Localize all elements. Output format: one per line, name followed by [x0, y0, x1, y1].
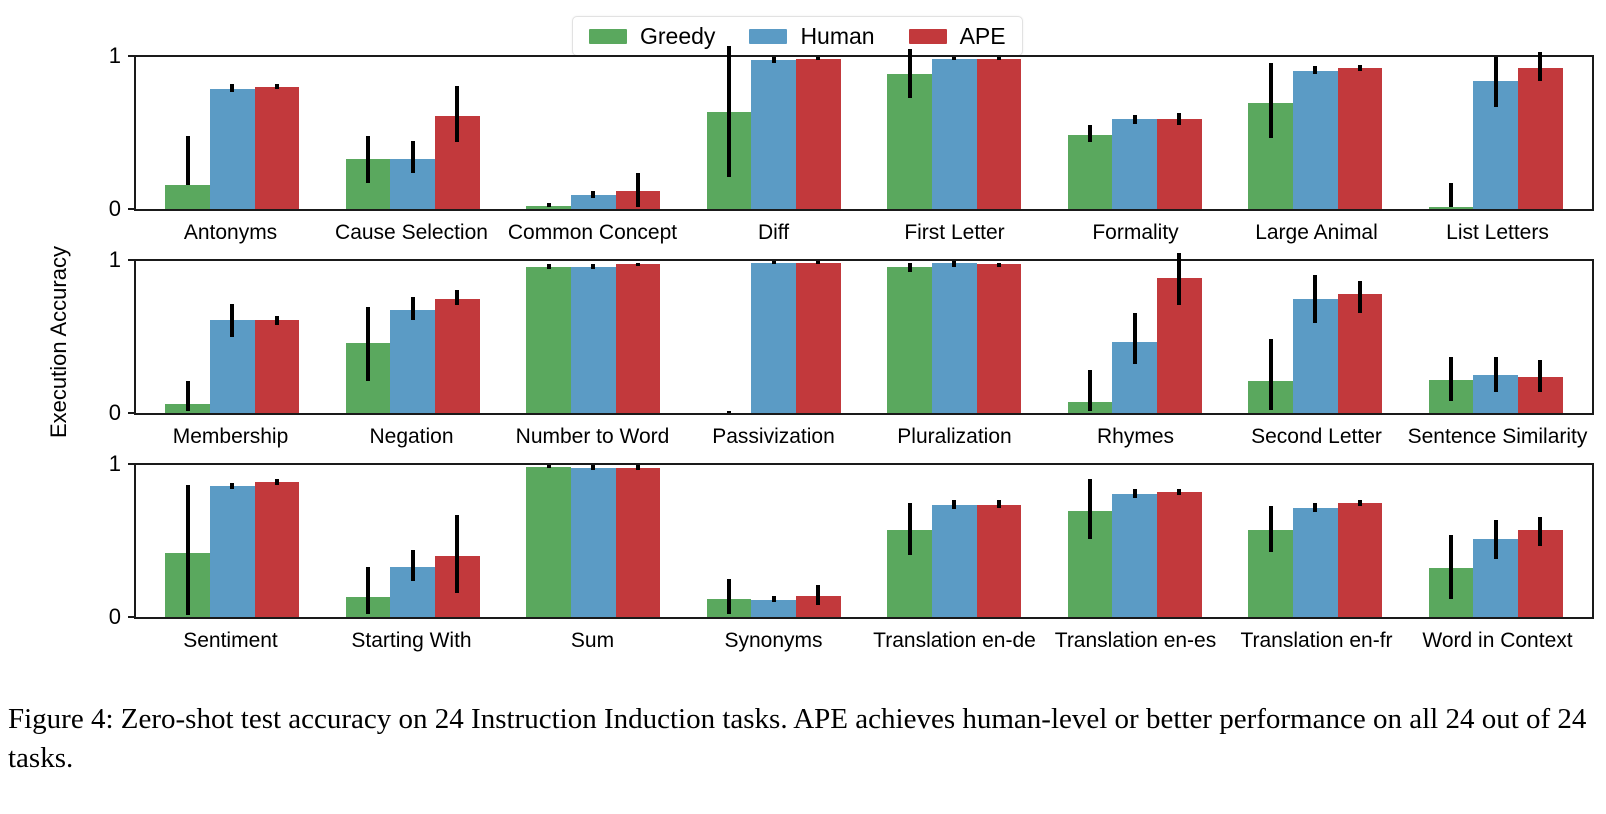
bar-ape[interactable]: [255, 482, 300, 617]
bar-group-bars: [1068, 465, 1202, 617]
x-tick-label: Translation en-es: [1045, 619, 1226, 651]
bar-human[interactable]: [932, 263, 977, 413]
x-tick-label: Passivization: [683, 415, 864, 447]
error-bar-ape: [455, 86, 459, 142]
bar-human[interactable]: [210, 486, 255, 617]
error-bar-greedy: [547, 264, 551, 269]
bar-group-bars: [526, 57, 660, 209]
error-bar-ape: [816, 261, 820, 264]
bar-slot: [571, 465, 616, 617]
x-tick-label: Translation en-fr: [1226, 619, 1407, 651]
y-tick-mark: [128, 412, 136, 414]
bar-group: [1225, 465, 1406, 617]
bar-slot: [932, 57, 977, 209]
x-axis-labels: MembershipNegationNumber to WordPassiviz…: [134, 415, 1594, 447]
bar-slot: [616, 465, 661, 617]
y-tick-0: 0: [109, 400, 136, 426]
error-bar-ape: [816, 57, 820, 60]
bar-ape[interactable]: [796, 263, 841, 413]
error-bar-ape: [997, 500, 1001, 508]
y-tick-mark: [128, 463, 136, 465]
bar-slot: [1518, 261, 1563, 413]
bar-group: [323, 261, 504, 413]
error-bar-human: [411, 141, 415, 173]
bar-human[interactable]: [210, 89, 255, 209]
bar-group-bars: [887, 261, 1021, 413]
bar-group: [142, 465, 323, 617]
bar-slot: [346, 465, 391, 617]
bar-group-bars: [1429, 57, 1563, 209]
bar-group-bars: [707, 465, 841, 617]
bar-group-bars: [887, 465, 1021, 617]
y-tick-mark: [128, 616, 136, 618]
chart-panel-row-3: 1 0 SentimentStarting WithSumSynonymsTra…: [134, 463, 1594, 619]
x-tick-label: Translation en-de: [864, 619, 1045, 651]
bar-slot: [255, 57, 300, 209]
bar-group: [142, 57, 323, 209]
bar-slot: [977, 465, 1022, 617]
x-tick-label: Diff: [683, 211, 864, 243]
bar-group: [1406, 261, 1587, 413]
y-tick-label: 1: [109, 451, 121, 477]
error-bar-ape: [1538, 360, 1542, 392]
bar-group: [323, 57, 504, 209]
error-bar-human: [230, 483, 234, 489]
bar-group-bars: [1429, 465, 1563, 617]
bar-slot: [707, 465, 752, 617]
bar-slot: [1112, 57, 1157, 209]
bar-human[interactable]: [1293, 71, 1338, 209]
bar-slot: [346, 261, 391, 413]
x-tick-label: Sentiment: [140, 619, 321, 651]
error-bar-human: [591, 191, 595, 199]
figure-caption: Figure 4: Zero-shot test accuracy on 24 …: [8, 700, 1600, 778]
bar-group-bars: [887, 57, 1021, 209]
bar-slot: [1112, 261, 1157, 413]
bar-slot: [1429, 57, 1474, 209]
bar-slot: [210, 261, 255, 413]
bar-ape[interactable]: [977, 59, 1022, 209]
legend-entry-ape[interactable]: APE: [909, 25, 1006, 48]
y-axis-label-text: Execution Accuracy: [46, 202, 72, 482]
error-bar-human: [1494, 57, 1498, 107]
figure-container: GreedyHumanAPE Execution Accuracy 1 0 An…: [0, 0, 1606, 814]
bar-human[interactable]: [932, 505, 977, 617]
bar-group: [1225, 57, 1406, 209]
error-bar-greedy: [1269, 339, 1273, 410]
x-axis-labels: SentimentStarting WithSumSynonymsTransla…: [134, 619, 1594, 651]
bar-slot: [526, 261, 571, 413]
error-bar-human: [952, 500, 956, 509]
bar-slot: [1518, 57, 1563, 209]
bar-slot: [1293, 465, 1338, 617]
bar-slot: [796, 465, 841, 617]
bar-group: [684, 57, 865, 209]
bar-greedy[interactable]: [526, 467, 571, 617]
bar-human[interactable]: [751, 60, 796, 209]
bar-greedy[interactable]: [165, 185, 210, 209]
x-tick-label: Negation: [321, 415, 502, 447]
bar-group-bars: [707, 261, 841, 413]
error-bar-greedy: [366, 136, 370, 183]
bar-slot: [1248, 465, 1293, 617]
bar-group: [142, 261, 323, 413]
bar-slot: [887, 57, 932, 209]
bar-human[interactable]: [932, 59, 977, 209]
bar-slot: [1429, 465, 1474, 617]
error-bar-greedy: [1088, 370, 1092, 411]
error-bar-ape: [1358, 281, 1362, 313]
bar-slot: [1473, 465, 1518, 617]
bar-ape[interactable]: [1518, 68, 1563, 209]
error-bar-human: [772, 57, 776, 63]
legend-swatch-human: [749, 29, 787, 44]
bar-slot: [1248, 57, 1293, 209]
error-bar-greedy: [186, 485, 190, 616]
error-bar-greedy: [908, 263, 912, 272]
legend-label-greedy: Greedy: [640, 25, 715, 48]
bar-slot: [616, 57, 661, 209]
bar-slot: [751, 261, 796, 413]
error-bar-ape: [275, 84, 279, 89]
bar-ape[interactable]: [977, 505, 1022, 617]
error-bar-greedy: [1269, 506, 1273, 552]
error-bar-human: [1133, 489, 1137, 498]
bar-slot: [1293, 261, 1338, 413]
bar-slot: [435, 261, 480, 413]
bar-greedy[interactable]: [1429, 207, 1474, 209]
bar-ape[interactable]: [1338, 503, 1383, 617]
bar-slot: [1338, 57, 1383, 209]
bar-group-bars: [1248, 261, 1382, 413]
error-bar-ape: [1177, 253, 1181, 305]
error-bar-human: [1494, 520, 1498, 560]
error-bar-human: [411, 297, 415, 320]
bar-slot: [707, 57, 752, 209]
bar-human[interactable]: [751, 263, 796, 413]
bar-slot: [1338, 261, 1383, 413]
bar-slot: [1473, 57, 1518, 209]
bar-slot: [751, 57, 796, 209]
y-tick-mark: [128, 208, 136, 210]
legend-label-human: Human: [800, 25, 874, 48]
error-bar-ape: [636, 173, 640, 208]
error-bar-ape: [636, 263, 640, 266]
bar-slot: [210, 465, 255, 617]
bar-group-bars: [526, 261, 660, 413]
bar-slot: [932, 465, 977, 617]
y-tick-label: 0: [109, 196, 121, 222]
error-bar-greedy: [366, 567, 370, 614]
bar-slot: [1518, 465, 1563, 617]
bar-slot: [165, 465, 210, 617]
error-bar-greedy: [1269, 63, 1273, 137]
plot-frame: 1 0: [134, 55, 1594, 211]
bar-group: [323, 465, 504, 617]
error-bar-ape: [1177, 489, 1181, 495]
error-bar-human: [591, 264, 595, 269]
bar-ape[interactable]: [616, 468, 661, 617]
x-tick-label: Formality: [1045, 211, 1226, 243]
error-bar-human: [591, 465, 595, 470]
bar-group-bars: [1248, 465, 1382, 617]
error-bar-greedy: [547, 203, 551, 208]
error-bar-human: [952, 57, 956, 60]
error-bar-ape: [1538, 517, 1542, 546]
bar-slot: [165, 57, 210, 209]
error-bar-human: [1313, 503, 1317, 512]
error-bar-ape: [275, 479, 279, 485]
bar-slot: [751, 465, 796, 617]
bar-slot: [796, 261, 841, 413]
bar-slot: [346, 57, 391, 209]
bar-group-bars: [346, 57, 480, 209]
error-bar-greedy: [727, 411, 731, 413]
bar-group-bars: [1068, 261, 1202, 413]
error-bar-greedy: [908, 503, 912, 555]
bar-slot: [526, 465, 571, 617]
y-tick-label: 1: [109, 43, 121, 69]
error-bar-ape: [455, 290, 459, 305]
error-bar-human: [1494, 357, 1498, 392]
y-tick-label: 0: [109, 400, 121, 426]
bar-group: [1045, 465, 1226, 617]
bar-group-bars: [707, 57, 841, 209]
error-bar-ape: [636, 465, 640, 470]
x-tick-label: Synonyms: [683, 619, 864, 651]
bar-human[interactable]: [751, 600, 796, 617]
bar-slot: [1293, 57, 1338, 209]
bars-area: [136, 465, 1592, 617]
bar-ape[interactable]: [977, 264, 1022, 413]
bars-area: [136, 57, 1592, 209]
bar-group-bars: [346, 465, 480, 617]
legend-swatch-ape: [909, 29, 947, 44]
y-tick-label: 0: [109, 604, 121, 630]
error-bar-human: [411, 550, 415, 580]
x-tick-label: Starting With: [321, 619, 502, 651]
bar-group-bars: [526, 465, 660, 617]
x-tick-label: Sentence Similarity: [1407, 415, 1588, 447]
error-bar-ape: [1177, 113, 1181, 125]
bar-ape[interactable]: [796, 59, 841, 209]
error-bar-human: [1133, 115, 1137, 124]
bar-slot: [1338, 465, 1383, 617]
bar-slot: [390, 57, 435, 209]
x-tick-label: Common Concept: [502, 211, 683, 243]
bar-slot: [1112, 465, 1157, 617]
bar-group: [864, 57, 1045, 209]
bar-group-bars: [165, 57, 299, 209]
bar-slot: [1157, 261, 1202, 413]
bar-human[interactable]: [1112, 494, 1157, 617]
bar-ape[interactable]: [1157, 119, 1202, 209]
bar-human[interactable]: [571, 267, 616, 413]
bar-slot: [390, 465, 435, 617]
y-tick-mark: [128, 55, 136, 57]
error-bar-ape: [997, 263, 1001, 268]
bar-ape[interactable]: [616, 264, 661, 413]
y-axis-label: Execution Accuracy: [46, 0, 72, 202]
chart-legend: GreedyHumanAPE: [572, 16, 1023, 56]
bar-slot: [796, 57, 841, 209]
y-tick-label: 1: [109, 247, 121, 273]
bar-ape[interactable]: [255, 87, 300, 209]
x-axis-labels: AntonymsCause SelectionCommon ConceptDif…: [134, 211, 1594, 243]
bar-group: [864, 261, 1045, 413]
x-tick-label: Membership: [140, 415, 321, 447]
x-tick-label: First Letter: [864, 211, 1045, 243]
y-tick-1: 1: [109, 43, 136, 69]
bar-slot: [1157, 465, 1202, 617]
bar-slot: [1068, 261, 1113, 413]
legend-entry-greedy[interactable]: Greedy: [589, 25, 715, 48]
bar-group-bars: [346, 261, 480, 413]
plot-frame: 1 0: [134, 259, 1594, 415]
bar-slot: [1157, 57, 1202, 209]
x-tick-label: Antonyms: [140, 211, 321, 243]
y-tick-mark: [128, 259, 136, 261]
bar-human[interactable]: [571, 468, 616, 617]
x-tick-label: Large Animal: [1226, 211, 1407, 243]
bar-slot: [887, 261, 932, 413]
bar-group-bars: [1429, 261, 1563, 413]
plot-frame: 1 0: [134, 463, 1594, 619]
error-bar-human: [952, 261, 956, 267]
chart-panel-row-1: 1 0 AntonymsCause SelectionCommon Concep…: [134, 55, 1594, 211]
error-bar-ape: [275, 316, 279, 325]
error-bar-greedy: [727, 46, 731, 177]
error-bar-ape: [997, 57, 1001, 60]
error-bar-ape: [1538, 52, 1542, 81]
bar-ape[interactable]: [435, 299, 480, 413]
bar-group: [1045, 261, 1226, 413]
bar-group: [684, 261, 865, 413]
bar-slot: [977, 57, 1022, 209]
bar-slot: [1429, 261, 1474, 413]
error-bar-greedy: [1449, 357, 1453, 401]
legend-swatch-greedy: [589, 29, 627, 44]
bar-ape[interactable]: [255, 320, 300, 413]
bar-group-bars: [1248, 57, 1382, 209]
x-tick-label: Sum: [502, 619, 683, 651]
bar-slot: [1473, 261, 1518, 413]
error-bar-greedy: [186, 136, 190, 185]
error-bar-human: [230, 84, 234, 92]
error-bar-greedy: [547, 465, 551, 468]
bar-slot: [210, 57, 255, 209]
bar-group: [1225, 261, 1406, 413]
bar-group: [684, 465, 865, 617]
error-bar-human: [772, 596, 776, 602]
bar-slot: [977, 261, 1022, 413]
bar-slot: [435, 465, 480, 617]
bar-slot: [707, 261, 752, 413]
x-tick-label: Pluralization: [864, 415, 1045, 447]
error-bar-ape: [1358, 65, 1362, 71]
bar-slot: [435, 57, 480, 209]
error-bar-greedy: [1088, 479, 1092, 540]
error-bar-ape: [1358, 500, 1362, 506]
error-bar-greedy: [366, 307, 370, 381]
bar-slot: [255, 465, 300, 617]
x-tick-label: List Letters: [1407, 211, 1588, 243]
bar-slot: [1068, 465, 1113, 617]
bar-ape[interactable]: [1338, 68, 1383, 209]
y-tick-1: 1: [109, 451, 136, 477]
error-bar-ape: [455, 515, 459, 593]
bar-slot: [571, 57, 616, 209]
error-bar-greedy: [1449, 183, 1453, 207]
y-tick-1: 1: [109, 247, 136, 273]
error-bar-greedy: [908, 49, 912, 98]
bar-slot: [1068, 57, 1113, 209]
error-bar-human: [1313, 275, 1317, 324]
bar-greedy[interactable]: [1068, 135, 1113, 209]
chart-panel-row-2: 1 0 MembershipNegationNumber to WordPass…: [134, 259, 1594, 415]
bar-slot: [887, 465, 932, 617]
error-bar-ape: [816, 585, 820, 605]
bar-slot: [390, 261, 435, 413]
x-tick-label: Number to Word: [502, 415, 683, 447]
bar-human[interactable]: [1293, 508, 1338, 617]
error-bar-human: [772, 261, 776, 264]
bar-group: [1406, 465, 1587, 617]
bar-group-bars: [1068, 57, 1202, 209]
bar-slot: [932, 261, 977, 413]
bar-group-bars: [165, 465, 299, 617]
bar-group: [503, 57, 684, 209]
error-bar-human: [1133, 313, 1137, 365]
bar-slot: [165, 261, 210, 413]
legend-label-ape: APE: [960, 25, 1006, 48]
bar-group: [503, 465, 684, 617]
bar-human[interactable]: [390, 310, 435, 413]
legend-entry-human[interactable]: Human: [749, 25, 874, 48]
x-tick-label: Word in Context: [1407, 619, 1588, 651]
bar-slot: [1248, 261, 1293, 413]
bar-slot: [255, 261, 300, 413]
bar-greedy[interactable]: [526, 267, 571, 413]
error-bar-greedy: [1449, 535, 1453, 599]
bar-slot: [526, 57, 571, 209]
x-tick-label: Rhymes: [1045, 415, 1226, 447]
bar-group: [1406, 57, 1587, 209]
bar-human[interactable]: [1112, 119, 1157, 209]
error-bar-greedy: [727, 579, 731, 614]
bar-slot: [571, 261, 616, 413]
bar-ape[interactable]: [1157, 492, 1202, 617]
y-tick-0: 0: [109, 196, 136, 222]
bar-greedy[interactable]: [887, 267, 932, 413]
x-tick-label: Cause Selection: [321, 211, 502, 243]
bar-group: [864, 465, 1045, 617]
bar-slot: [616, 261, 661, 413]
error-bar-greedy: [1088, 125, 1092, 142]
x-tick-label: Second Letter: [1226, 415, 1407, 447]
bar-group-bars: [165, 261, 299, 413]
error-bar-greedy: [186, 381, 190, 411]
bar-group: [1045, 57, 1226, 209]
bars-area: [136, 261, 1592, 413]
error-bar-human: [230, 304, 234, 337]
bar-group: [503, 261, 684, 413]
error-bar-human: [1313, 66, 1317, 74]
y-tick-0: 0: [109, 604, 136, 630]
